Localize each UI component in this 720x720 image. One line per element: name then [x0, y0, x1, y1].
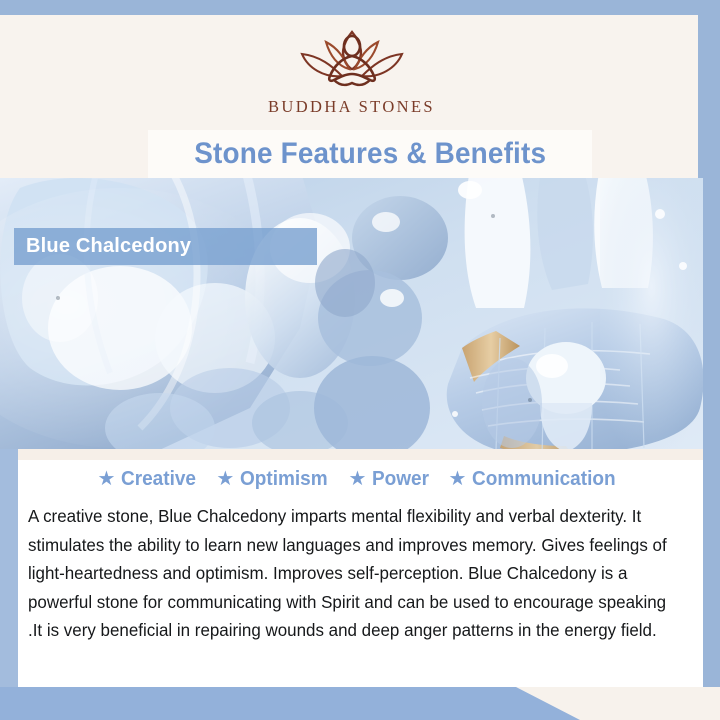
benefit-tag-label: Optimism	[240, 468, 328, 491]
left-blue-strip	[0, 440, 18, 720]
benefit-tag-row: ★ Creative ★ Optimism ★ Power ★ Communic…	[18, 468, 703, 491]
hero-image	[0, 178, 703, 449]
hero-caption-text: Blue Chalcedony	[14, 235, 191, 258]
blue-chalcedony-photo	[0, 178, 703, 449]
brand-name: BUDDHA STONES	[268, 97, 435, 117]
star-icon: ★	[349, 469, 367, 489]
benefit-tag: ★ Power	[349, 468, 433, 491]
content-card: ★ Creative ★ Optimism ★ Power ★ Communic…	[18, 460, 703, 687]
brand-logo: BUDDHA STONES	[0, 22, 703, 127]
cream-seam	[18, 449, 703, 460]
benefit-tag-label: Creative	[121, 468, 196, 491]
description-paragraph: A creative stone, Blue Chalcedony impart…	[28, 502, 683, 645]
page-title: Stone Features & Benefits	[194, 137, 546, 171]
benefit-tag: ★ Optimism	[216, 468, 332, 491]
star-icon: ★	[448, 469, 466, 489]
star-icon: ★	[216, 469, 234, 489]
lotus-meditation-icon	[272, 22, 432, 94]
hero-caption-banner: Blue Chalcedony	[14, 228, 317, 265]
promo-banner: BUDDHA STONES Stone Features & Benefits	[0, 0, 720, 720]
top-blue-strip	[0, 0, 720, 15]
section-title-band: Stone Features & Benefits	[148, 130, 592, 178]
benefit-tag-label: Communication	[472, 468, 616, 491]
benefit-tag-label: Power	[372, 468, 429, 491]
benefit-tag: ★ Creative	[97, 468, 200, 491]
star-icon: ★	[97, 469, 115, 489]
bottom-blue-band	[0, 687, 580, 720]
benefit-tag: ★ Communication	[448, 468, 623, 491]
